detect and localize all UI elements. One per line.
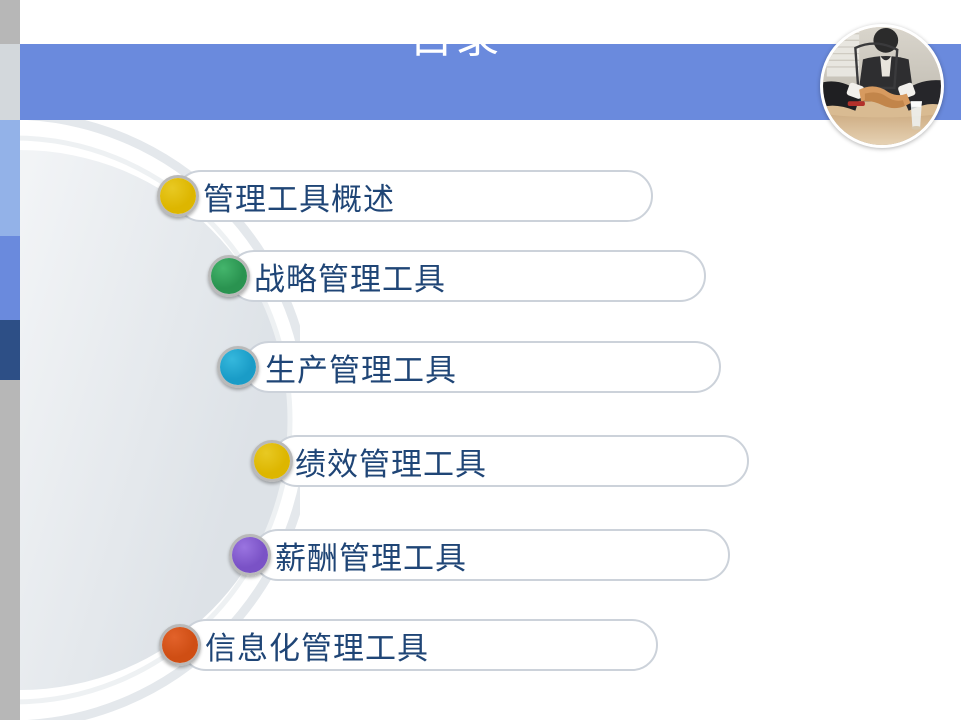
toc-item-label: 生产管理工具 <box>265 341 457 393</box>
toc-bullet-icon <box>159 624 201 666</box>
toc-bullet-fill <box>160 178 196 214</box>
toc-item-3[interactable]: 生产管理工具 <box>0 341 961 393</box>
sidebar-band-light-gray <box>0 44 20 120</box>
toc-bullet-icon <box>217 346 259 388</box>
toc-bullet-fill <box>220 349 256 385</box>
slide-root: 目录 <box>0 0 961 720</box>
sidebar-band-gray-bottom <box>0 380 20 720</box>
toc-item-5[interactable]: 薪酬管理工具 <box>0 529 961 581</box>
toc-item-2[interactable]: 战略管理工具 <box>0 250 961 302</box>
toc-bullet-fill <box>211 258 247 294</box>
toc-item-6[interactable]: 信息化管理工具 <box>0 619 961 671</box>
toc-bullet-icon <box>251 440 293 482</box>
sidebar-band-gray-top <box>0 0 20 44</box>
toc-bullet-icon <box>229 534 271 576</box>
toc-item-label: 信息化管理工具 <box>205 619 429 671</box>
toc-bullet-icon <box>208 255 250 297</box>
page-title: 目录 <box>0 0 941 76</box>
toc-item-label: 薪酬管理工具 <box>275 529 467 581</box>
toc-item-4[interactable]: 绩效管理工具 <box>0 435 961 487</box>
toc-bullet-fill <box>254 443 290 479</box>
handshake-photo <box>820 24 944 148</box>
toc-item-label: 管理工具概述 <box>203 170 395 222</box>
sidebar-band-dark-blue <box>0 320 20 380</box>
sidebar-band-mid-blue <box>0 236 20 320</box>
toc-item-1[interactable]: 管理工具概述 <box>0 170 961 222</box>
left-color-stripe <box>0 0 20 720</box>
toc-bullet-fill <box>162 627 198 663</box>
toc-item-label: 战略管理工具 <box>254 250 446 302</box>
toc-item-label: 绩效管理工具 <box>295 435 487 487</box>
toc-bullet-fill <box>232 537 268 573</box>
toc-bullet-icon <box>157 175 199 217</box>
sidebar-band-light-blue <box>0 120 20 236</box>
